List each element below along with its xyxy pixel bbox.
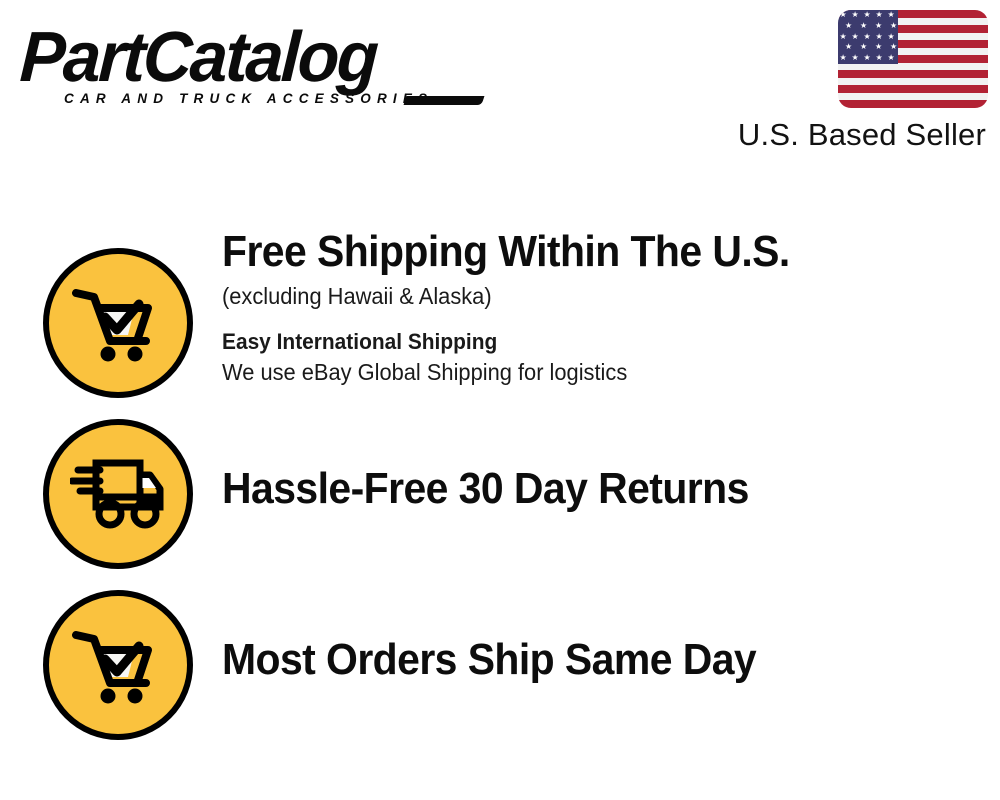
- feature-headline: Free Shipping Within The U.S.: [222, 230, 927, 275]
- feature-sub-note: (excluding Hawaii & Alaska): [222, 282, 942, 311]
- flag-star: ★: [845, 22, 852, 30]
- flag-canton: ★★★★★★★★★★★★★★★★★★★★★★★: [838, 10, 898, 64]
- flag-star: ★: [845, 43, 852, 51]
- flag-star: ★: [888, 33, 895, 41]
- logo-swoosh-icon: [404, 96, 485, 105]
- feature-sub-title: Easy International Shipping: [222, 328, 942, 356]
- flag-stripe: [838, 100, 988, 108]
- flag-star: ★: [876, 54, 883, 62]
- flag-star: ★: [864, 11, 871, 19]
- flag-star: ★: [840, 33, 847, 41]
- flag-star: ★: [875, 22, 882, 30]
- flag-star: ★: [890, 22, 897, 30]
- us-flag-icon: ★★★★★★★★★★★★★★★★★★★★★★★: [838, 10, 988, 108]
- flag-stripe: [838, 70, 988, 78]
- feature-text-same-day: Most Orders Ship Same Day: [222, 638, 980, 683]
- flag-star: ★: [860, 43, 867, 51]
- flag-star: ★: [852, 11, 859, 19]
- feature-sub-detail: We use eBay Global Shipping for logistic…: [222, 358, 942, 387]
- flag-star: ★: [852, 54, 859, 62]
- flag-star: ★: [864, 33, 871, 41]
- feature-text-returns: Hassle-Free 30 Day Returns: [222, 467, 980, 512]
- flag-stripe: [838, 85, 988, 93]
- badge-delivery-truck: [43, 419, 193, 569]
- badge-shopping-cart-check: [43, 590, 193, 740]
- flag-star: ★: [888, 11, 895, 19]
- seller-label: U.S. Based Seller: [738, 117, 986, 153]
- feature-headline: Hassle-Free 30 Day Returns: [222, 467, 927, 512]
- feature-text-free-shipping: Free Shipping Within The U.S. (excluding…: [222, 230, 980, 387]
- flag-star: ★: [890, 43, 897, 51]
- badge-shopping-cart-check: [43, 248, 193, 398]
- flag-star: ★: [875, 43, 882, 51]
- feature-headline: Most Orders Ship Same Day: [222, 638, 927, 683]
- flag-star: ★: [852, 33, 859, 41]
- flag-star: ★: [840, 11, 847, 19]
- flag-star: ★: [888, 54, 895, 62]
- flag-star: ★: [840, 54, 847, 62]
- flag-star: ★: [864, 54, 871, 62]
- flag-star: ★: [876, 33, 883, 41]
- flag-star: ★: [860, 22, 867, 30]
- brand-wordmark: PartCatalog: [18, 22, 473, 93]
- flag-star: ★: [876, 11, 883, 19]
